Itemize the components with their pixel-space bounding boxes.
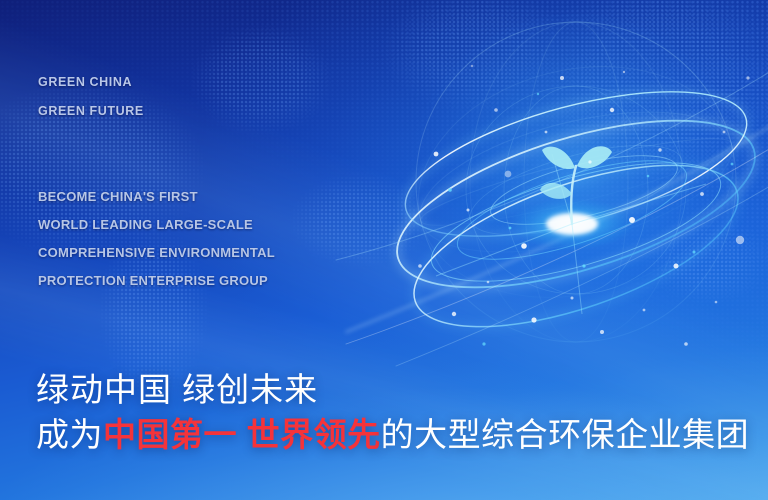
headline-accent: 中国第一 世界领先: [103, 416, 381, 453]
headline-block: 绿动中国 绿创未来 成为中国第一 世界领先的大型综合环保企业集团: [36, 368, 766, 458]
tagline-line-1: GREEN CHINA: [38, 68, 144, 97]
globe-graphic: [376, 14, 768, 366]
tagline-line-2: GREEN FUTURE: [38, 97, 144, 126]
headline-suffix: 的大型综合环保企业集团: [381, 416, 750, 453]
mission-line-3: COMPREHENSIVE ENVIRONMENTAL: [38, 239, 275, 267]
mission-line-2: WORLD LEADING LARGE-SCALE: [38, 211, 275, 239]
tagline-small: GREEN CHINA GREEN FUTURE: [38, 68, 144, 126]
headline-line-1: 绿动中国 绿创未来: [36, 368, 766, 412]
headline-prefix: 成为: [36, 416, 103, 453]
mission-statement: BECOME CHINA'S FIRST WORLD LEADING LARGE…: [38, 183, 275, 295]
mission-line-1: BECOME CHINA'S FIRST: [38, 183, 275, 211]
headline-line-2: 成为中国第一 世界领先的大型综合环保企业集团: [36, 412, 766, 458]
mission-line-4: PROTECTION ENTERPRISE GROUP: [38, 267, 275, 295]
hero-banner: GREEN CHINA GREEN FUTURE BECOME CHINA'S …: [0, 0, 768, 500]
